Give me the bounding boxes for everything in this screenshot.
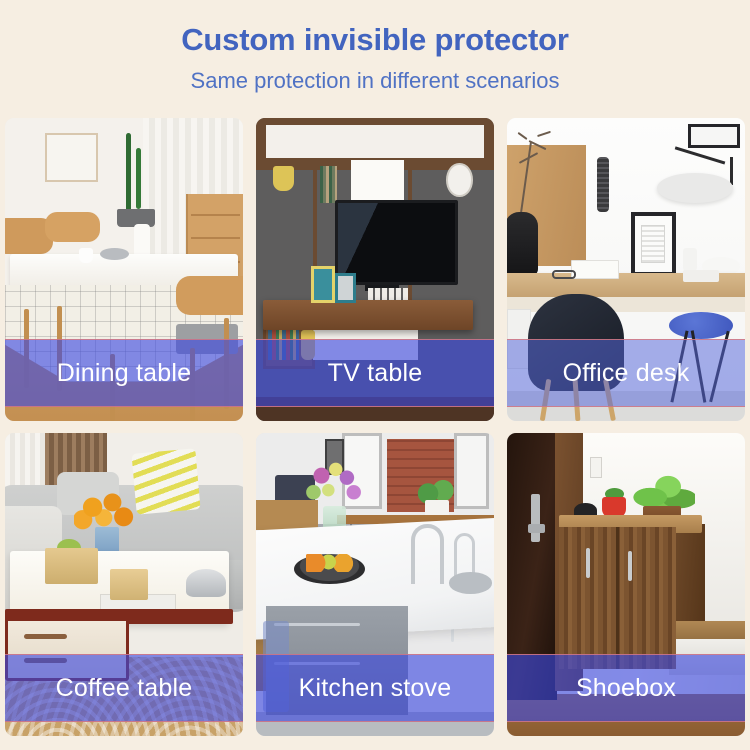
panel-label-band: Office desk: [507, 339, 745, 407]
panel-label: Kitchen stove: [299, 674, 452, 703]
scenario-panel-office-desk[interactable]: Office desk: [507, 118, 745, 421]
panel-label-band: Shoebox: [507, 654, 745, 722]
panel-label: Office desk: [563, 359, 690, 388]
panel-label: Shoebox: [576, 674, 676, 703]
scenario-panel-coffee-table[interactable]: Coffee table: [5, 433, 243, 736]
panel-label: Coffee table: [56, 674, 193, 703]
panel-label: TV table: [328, 359, 423, 388]
page-title: Custom invisible protector: [0, 22, 750, 59]
scenario-panel-dining-table[interactable]: Dining table: [5, 118, 243, 421]
panel-label-band: TV table: [256, 339, 494, 407]
scenario-grid: Dining table TV table: [5, 118, 745, 742]
page-subtitle: Same protection in different scenarios: [0, 68, 750, 94]
panel-label: Dining table: [57, 359, 191, 388]
scenario-panel-kitchen-stove[interactable]: Kitchen stove: [256, 433, 494, 736]
scenario-panel-tv-table[interactable]: TV table: [256, 118, 494, 421]
panel-label-band: Coffee table: [5, 654, 243, 722]
header: Custom invisible protector Same protecti…: [0, 0, 750, 94]
panel-label-band: Dining table: [5, 339, 243, 407]
panel-label-band: Kitchen stove: [256, 654, 494, 722]
scenario-panel-shoebox[interactable]: Shoebox: [507, 433, 745, 736]
